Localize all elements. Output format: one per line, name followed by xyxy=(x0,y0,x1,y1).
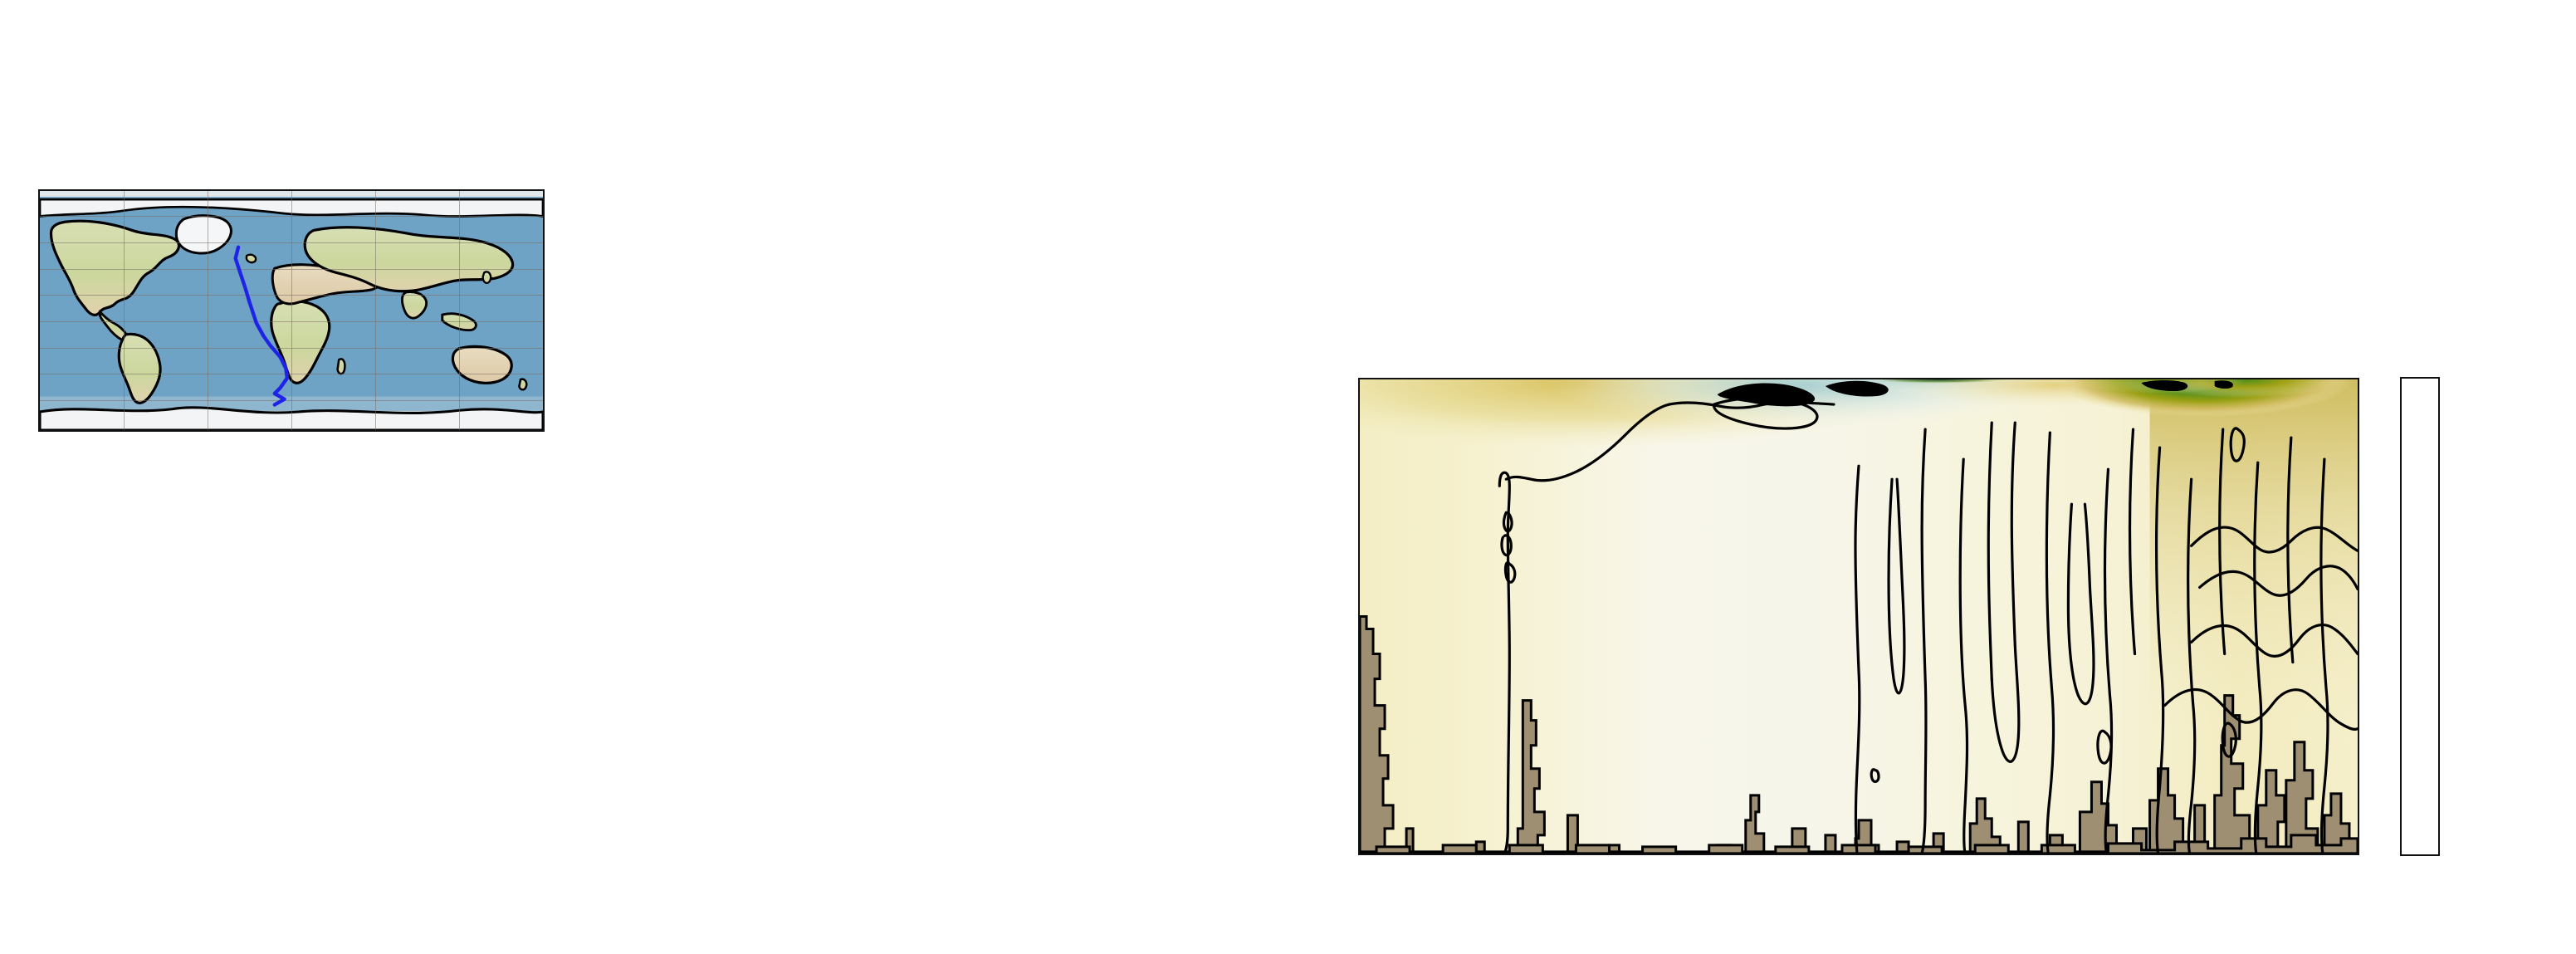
velocity-section-plot[interactable] xyxy=(1358,378,2359,855)
section-field xyxy=(1360,379,2358,854)
world-map-panel[interactable] xyxy=(38,189,545,432)
transect-line[interactable] xyxy=(40,191,543,430)
colorbar[interactable] xyxy=(2400,377,2440,856)
colorbar-gradient xyxy=(2402,379,2438,854)
